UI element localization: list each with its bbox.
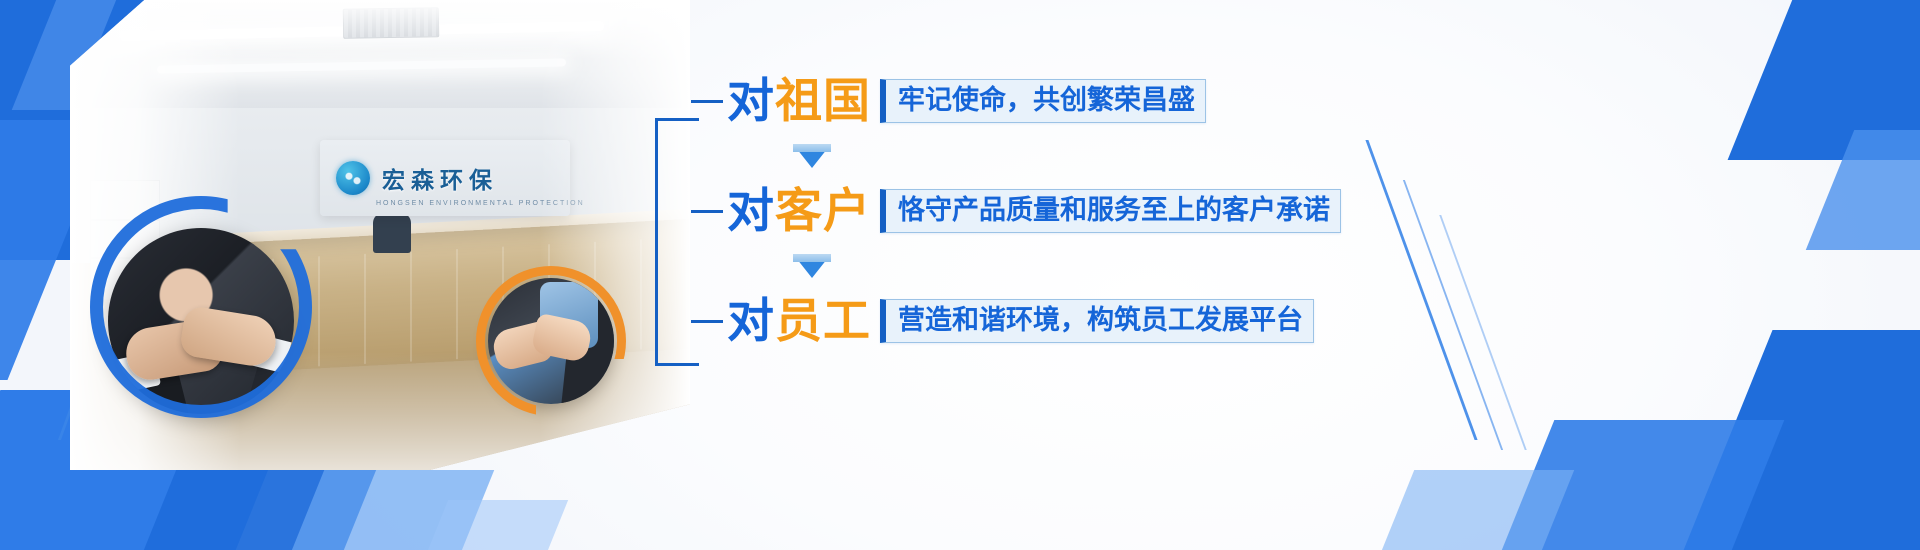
decor-parallelogram-bottom-right-3 (1366, 470, 1574, 550)
arrow-row-2 (691, 242, 1656, 290)
decor-parallelogram-bottom-right-2 (1486, 420, 1785, 550)
value-prefix-country: 对 (727, 74, 775, 129)
value-prefix-employee: 对 (727, 294, 775, 349)
decor-parallelogram-bottom-right-1 (1667, 330, 1920, 550)
decor-parallelogram-top-right-2 (1806, 130, 1920, 250)
values-diagram: 对祖国 牢记使命，共创繁荣昌盛 对客户 恪守产品质量和服务至上的客户承诺 对员工… (655, 70, 1655, 400)
staff-body (373, 213, 411, 253)
value-slogan-customer: 恪守产品质量和服务至上的客户承诺 (880, 189, 1341, 233)
chevron-down-icon (793, 254, 831, 278)
value-prefix-customer: 对 (727, 184, 775, 239)
decor-parallelogram-bottom-left-4 (412, 500, 568, 550)
handshake-photo-circle (108, 228, 294, 414)
row-stem-country (691, 100, 723, 103)
decor-parallelogram-bottom-left-3 (276, 470, 494, 550)
value-target-customer: 客户 (775, 184, 871, 239)
chevron-down-icon (793, 144, 831, 168)
values-rows: 对祖国 牢记使命，共创繁荣昌盛 对客户 恪守产品质量和服务至上的客户承诺 对员工… (691, 70, 1656, 352)
decor-parallelogram-top-right-1 (1728, 0, 1920, 160)
value-slogan-country: 牢记使命，共创繁荣昌盛 (880, 79, 1206, 123)
value-row-country: 对祖国 牢记使命，共创繁荣昌盛 (691, 70, 1656, 132)
applause-photo-circle (488, 278, 614, 404)
value-title-country: 对祖国 (727, 78, 871, 125)
value-row-employee: 对员工 营造和谐环境，构筑员工发展平台 (691, 290, 1656, 352)
arrow-row-1 (691, 132, 1656, 180)
value-row-customer: 对客户 恪守产品质量和服务至上的客户承诺 (691, 180, 1656, 242)
company-name-text: 宏森环保 (382, 161, 498, 195)
value-target-employee: 员工 (775, 294, 871, 349)
value-slogan-employee: 营造和谐环境，构筑员工发展平台 (880, 299, 1314, 343)
company-wall-sign: 宏森环保 HONGSEN ENVIRONMENTAL PROTECTION (320, 140, 570, 216)
row-stem-customer (691, 210, 723, 213)
row-stem-employee (691, 320, 723, 323)
value-target-country: 祖国 (775, 74, 871, 129)
value-title-customer: 对客户 (727, 188, 871, 235)
value-title-employee: 对员工 (727, 298, 871, 345)
company-logo-icon (336, 161, 370, 195)
promo-banner: 宏森环保 HONGSEN ENVIRONMENTAL PROTECTION 对祖… (0, 0, 1920, 550)
